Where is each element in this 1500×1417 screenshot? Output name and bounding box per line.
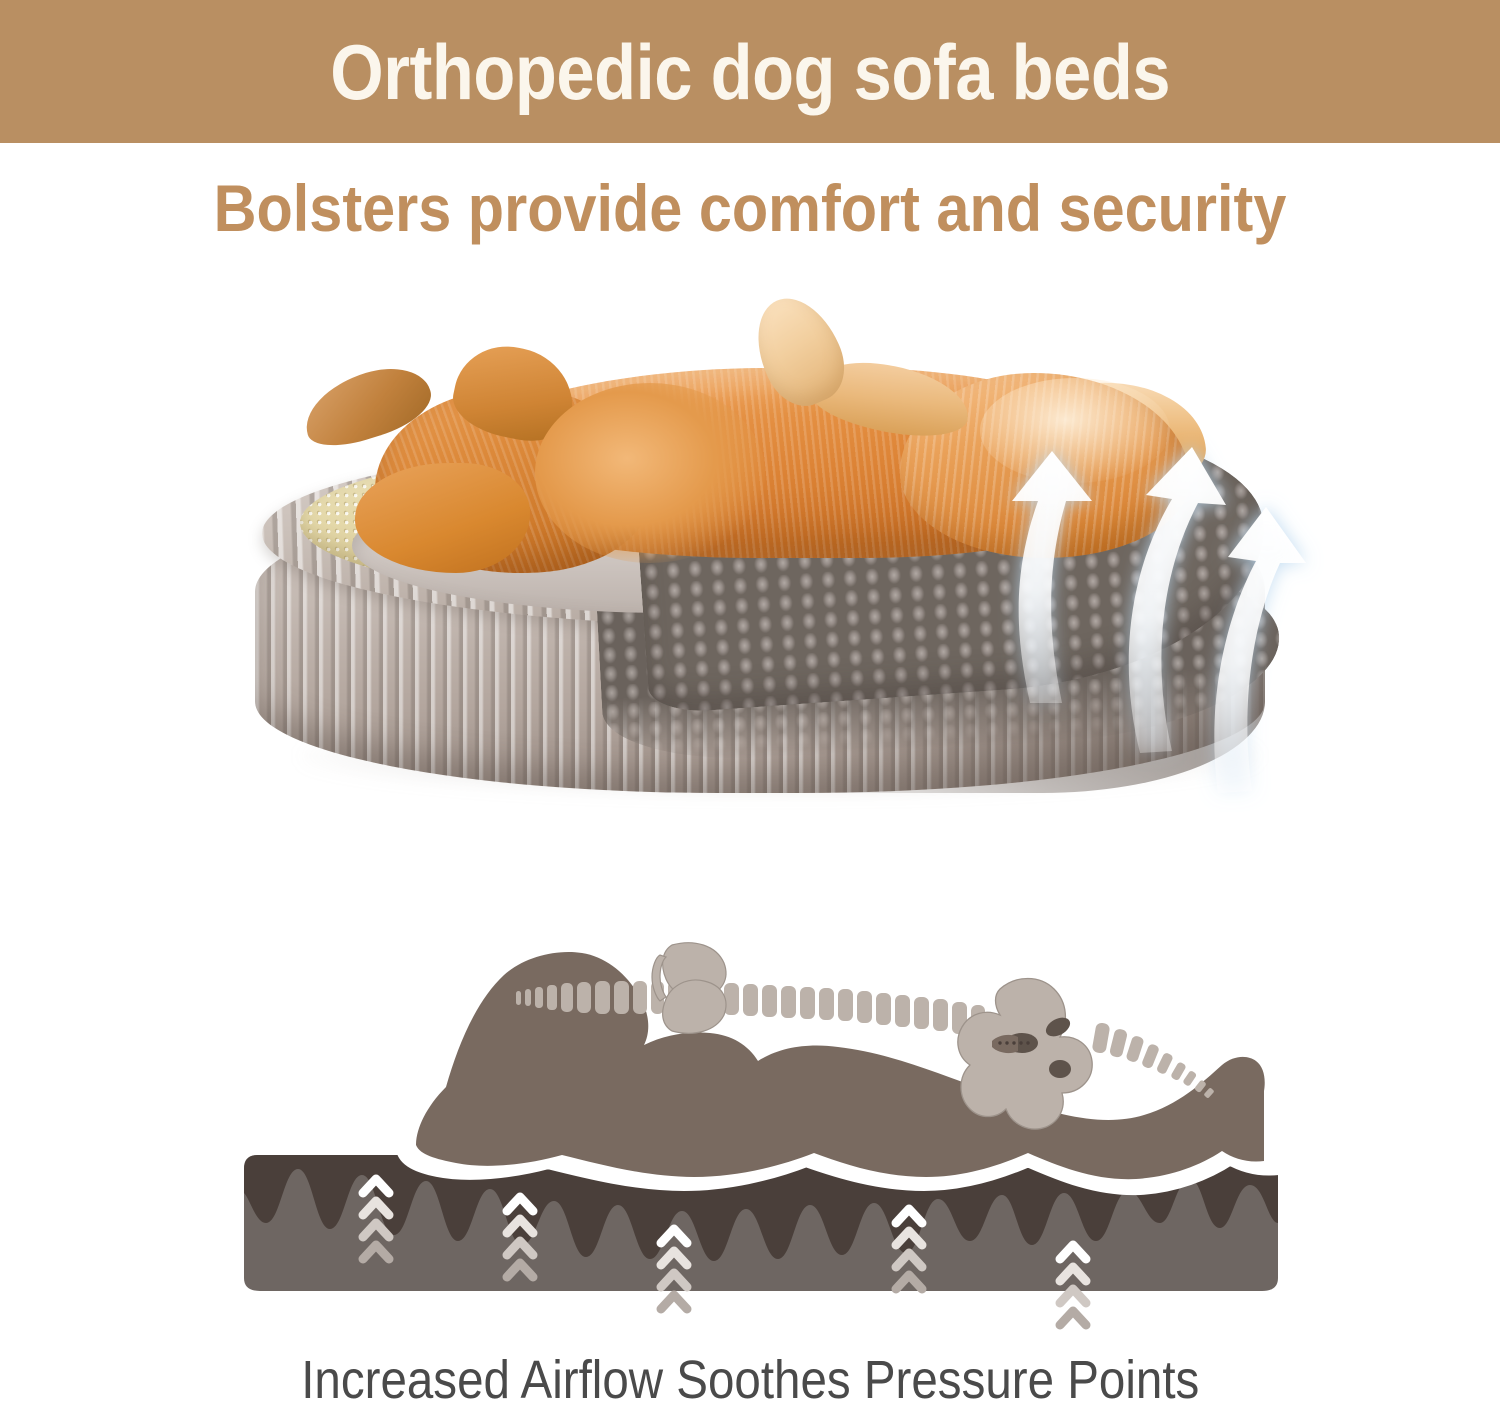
caption-text: Increased Airflow Soothes Pressure Point… xyxy=(301,1353,1199,1407)
dog-muzzle xyxy=(355,463,530,573)
tail-vertebrae xyxy=(1092,1022,1215,1099)
dog-fur-highlight xyxy=(980,378,1170,483)
caption-section: Increased Airflow Soothes Pressure Point… xyxy=(0,1343,1500,1417)
product-photo xyxy=(0,273,1500,923)
page-title: Orthopedic dog sofa beds xyxy=(330,33,1170,111)
product-photo-scene xyxy=(0,273,1500,923)
subtitle-text: Bolsters provide comfort and security xyxy=(214,175,1287,241)
sleeping-dog xyxy=(280,288,1200,618)
dog-silhouette xyxy=(416,952,1265,1179)
dog-neck-ruff xyxy=(535,383,765,563)
subtitle-section: Bolsters provide comfort and security xyxy=(0,143,1500,273)
foam-diagram-svg xyxy=(0,923,1500,1343)
orthopedic-foam-diagram xyxy=(0,923,1500,1343)
header-banner: Orthopedic dog sofa beds xyxy=(0,0,1500,143)
